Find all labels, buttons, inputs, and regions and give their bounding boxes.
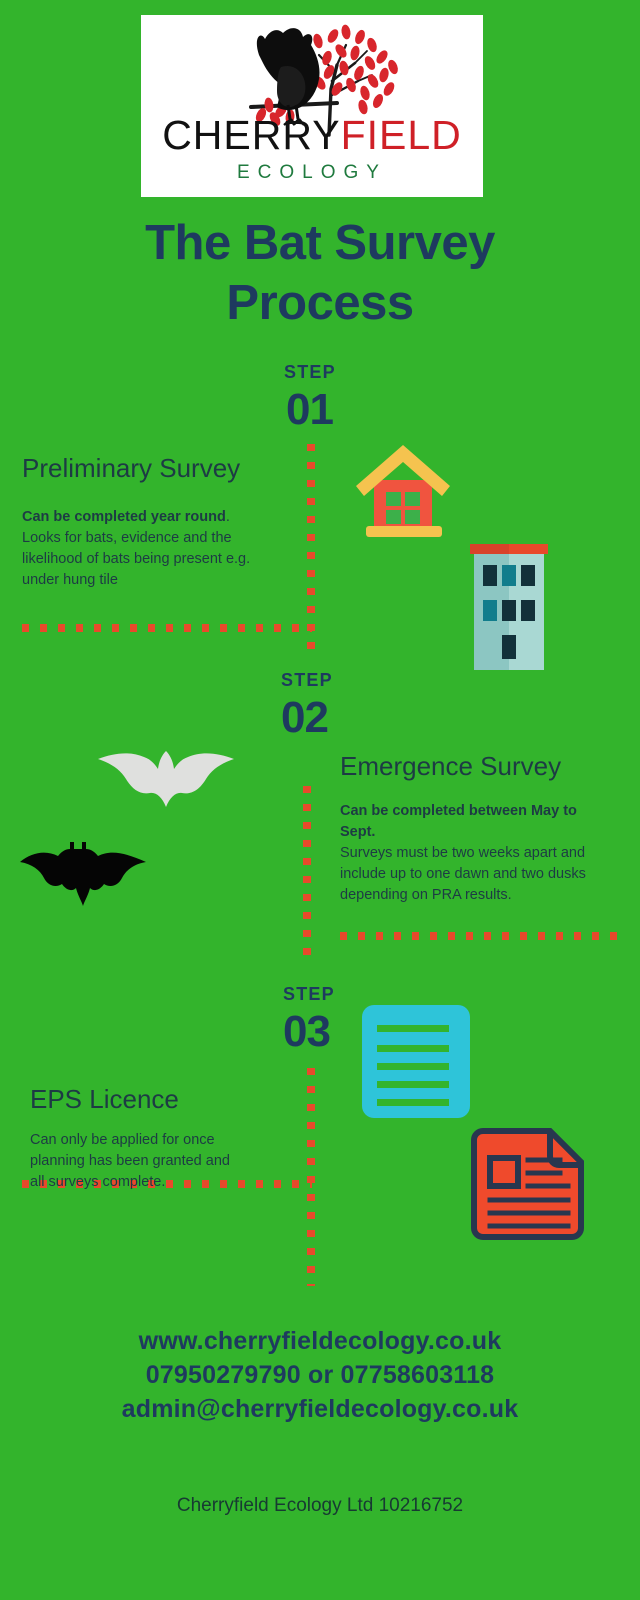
- step-1-body-text: Looks for bats, evidence and the likelih…: [22, 530, 250, 588]
- step-2-vertical-dotted-line: [303, 786, 311, 956]
- infographic-page: CHERRYFIELD ECOLOGY The Bat Survey Proce…: [0, 0, 640, 1600]
- contact-website[interactable]: www.cherryfieldecology.co.uk: [0, 1325, 640, 1359]
- step-1-heading: Preliminary Survey: [22, 454, 282, 483]
- step-1-vertical-dotted-line: [307, 444, 315, 650]
- step-3-vertical-dotted-line: [307, 1068, 315, 1286]
- logo-wordmark: CHERRYFIELD: [141, 115, 483, 156]
- logo-word-cherry: CHERRY: [162, 112, 340, 158]
- apartment-building-icon: [470, 538, 548, 670]
- step-1-label: STEP: [284, 362, 336, 383]
- page-title-line-2: Process: [0, 274, 640, 334]
- bat-dark-icon: [18, 840, 148, 908]
- step-1-body: Can be completed year round. Looks for b…: [22, 507, 254, 591]
- contact-block: www.cherryfieldecology.co.uk 07950279790…: [0, 1325, 640, 1426]
- step-2-number: 02: [281, 696, 328, 740]
- document-licence-icon: [468, 1128, 584, 1240]
- contact-email[interactable]: admin@cherryfieldecology.co.uk: [0, 1393, 640, 1427]
- footer-company: Cherryfield Ecology Ltd 10216752: [0, 1495, 640, 1517]
- house-icon: [352, 440, 456, 544]
- step-3-body-text: Can only be applied for once planning ha…: [30, 1132, 230, 1190]
- step-3-number: 03: [283, 1010, 330, 1054]
- step-1-number: 01: [286, 388, 333, 432]
- step-2-body-text: Surveys must be two weeks apart and incl…: [340, 845, 586, 903]
- contact-phones[interactable]: 07950279790 or 07758603118: [0, 1359, 640, 1393]
- step-2-heading: Emergence Survey: [340, 752, 600, 781]
- step-2-body-bold: Can be completed between May to Sept.: [340, 803, 577, 840]
- step-3-label: STEP: [283, 984, 335, 1005]
- step-2-body: Can be completed between May to Sept. Su…: [340, 801, 612, 906]
- page-title-line-1: The Bat Survey: [0, 214, 640, 274]
- step-1-horizontal-dotted-line: [22, 624, 312, 632]
- logo-subtitle: ECOLOGY: [141, 162, 483, 184]
- logo-word-field: FIELD: [341, 112, 462, 158]
- step-3-body: Can only be applied for once planning ha…: [30, 1130, 245, 1193]
- page-title: The Bat Survey Process: [0, 214, 640, 334]
- bat-light-icon: [96, 745, 236, 813]
- logo-card: CHERRYFIELD ECOLOGY: [141, 15, 483, 197]
- document-lines-icon: [362, 1005, 470, 1118]
- step-1-body-bold: Can be completed year round: [22, 509, 226, 525]
- step-2-label: STEP: [281, 670, 333, 691]
- step-1-body-bold-tail: .: [226, 509, 230, 525]
- step-2-horizontal-dotted-line: [340, 932, 620, 940]
- step-3-heading: EPS Licence: [30, 1085, 280, 1114]
